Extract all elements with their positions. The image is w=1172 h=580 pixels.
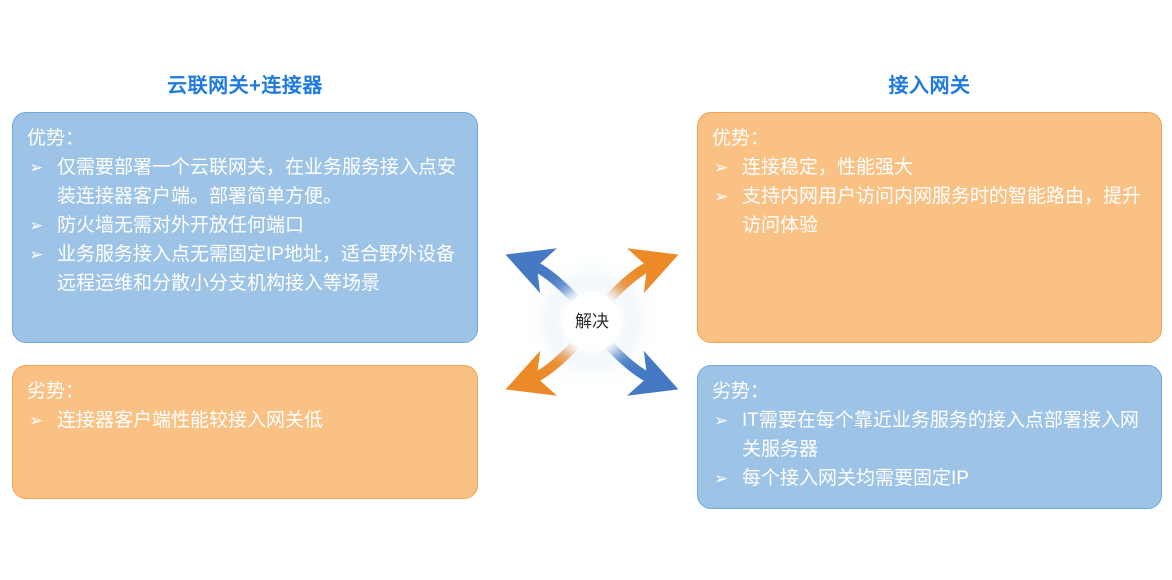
- bullet-list: ➢ IT需要在每个靠近业务服务的接入点部署接入网关服务器 ➢ 每个接入网关均需要…: [712, 406, 1145, 493]
- hub-circle: 解决: [563, 293, 621, 351]
- column-title-left: 云联网关+连接器: [12, 72, 478, 100]
- list-item-text: 业务服务接入点无需固定IP地址，适合野外设备远程运维和分散小分支机构接入等场景: [57, 244, 455, 294]
- bullet-list: ➢ 连接稳定，性能强大 ➢ 支持内网用户访问内网服务时的智能路由，提升访问体验: [712, 153, 1145, 240]
- list-item-text: IT需要在每个靠近业务服务的接入点部署接入网关服务器: [742, 410, 1139, 460]
- list-item: ➢ 仅需要部署一个云联网关，在业务服务接入点安装连接器客户端。部署简单方便。: [27, 153, 461, 211]
- panel-left-advantages: 优势： ➢ 仅需要部署一个云联网关，在业务服务接入点安装连接器客户端。部署简单方…: [12, 112, 478, 343]
- arrow-bullet-icon: ➢: [29, 240, 43, 269]
- arrow-lower-right: [609, 345, 656, 381]
- bullet-list: ➢ 仅需要部署一个云联网关，在业务服务接入点安装连接器客户端。部署简单方便。 ➢…: [27, 153, 461, 298]
- arrow-lower-left: [528, 345, 575, 381]
- list-item-text: 连接器客户端性能较接入网关低: [57, 410, 323, 431]
- arrow-bullet-icon: ➢: [714, 406, 728, 435]
- list-item-text: 仅需要部署一个云联网关，在业务服务接入点安装连接器客户端。部署简单方便。: [57, 157, 456, 207]
- list-item: ➢ 连接稳定，性能强大: [712, 153, 1145, 182]
- list-item-text: 防火墙无需对外开放任何端口: [57, 215, 304, 236]
- arrow-bullet-icon: ➢: [29, 153, 43, 182]
- panel-heading: 优势：: [712, 125, 1145, 153]
- panel-left-disadvantages: 劣势： ➢ 连接器客户端性能较接入网关低: [12, 365, 478, 499]
- panel-heading: 劣势：: [27, 378, 461, 406]
- center-hub: 解决: [492, 231, 692, 411]
- list-item: ➢ 连接器客户端性能较接入网关低: [27, 406, 461, 435]
- arrow-bullet-icon: ➢: [714, 182, 728, 211]
- arrow-upper-right: [609, 263, 656, 299]
- list-item: ➢ 支持内网用户访问内网服务时的智能路由，提升访问体验: [712, 182, 1145, 240]
- panel-right-disadvantages: 劣势： ➢ IT需要在每个靠近业务服务的接入点部署接入网关服务器 ➢ 每个接入网…: [697, 365, 1162, 509]
- bullet-list: ➢ 连接器客户端性能较接入网关低: [27, 406, 461, 435]
- list-item-text: 连接稳定，性能强大: [742, 157, 913, 178]
- arrow-bullet-icon: ➢: [29, 211, 43, 240]
- panel-heading: 优势：: [27, 125, 461, 153]
- arrow-bullet-icon: ➢: [714, 464, 728, 493]
- list-item: ➢ 每个接入网关均需要固定IP: [712, 464, 1145, 493]
- list-item: ➢ 防火墙无需对外开放任何端口: [27, 211, 461, 240]
- column-title-right: 接入网关: [697, 72, 1162, 100]
- hub-label: 解决: [575, 312, 609, 332]
- list-item-text: 每个接入网关均需要固定IP: [742, 468, 969, 489]
- arrow-upper-left: [528, 263, 575, 299]
- list-item: ➢ IT需要在每个靠近业务服务的接入点部署接入网关服务器: [712, 406, 1145, 464]
- arrow-bullet-icon: ➢: [29, 406, 43, 435]
- panel-heading: 劣势：: [712, 378, 1145, 406]
- diagram-canvas: 云联网关+连接器 接入网关 优势： ➢ 仅需要部署一个云联网关，在业务服务接入点…: [0, 0, 1172, 580]
- list-item: ➢ 业务服务接入点无需固定IP地址，适合野外设备远程运维和分散小分支机构接入等场…: [27, 240, 461, 298]
- arrow-bullet-icon: ➢: [714, 153, 728, 182]
- list-item-text: 支持内网用户访问内网服务时的智能路由，提升访问体验: [742, 186, 1141, 236]
- panel-right-advantages: 优势： ➢ 连接稳定，性能强大 ➢ 支持内网用户访问内网服务时的智能路由，提升访…: [697, 112, 1162, 343]
